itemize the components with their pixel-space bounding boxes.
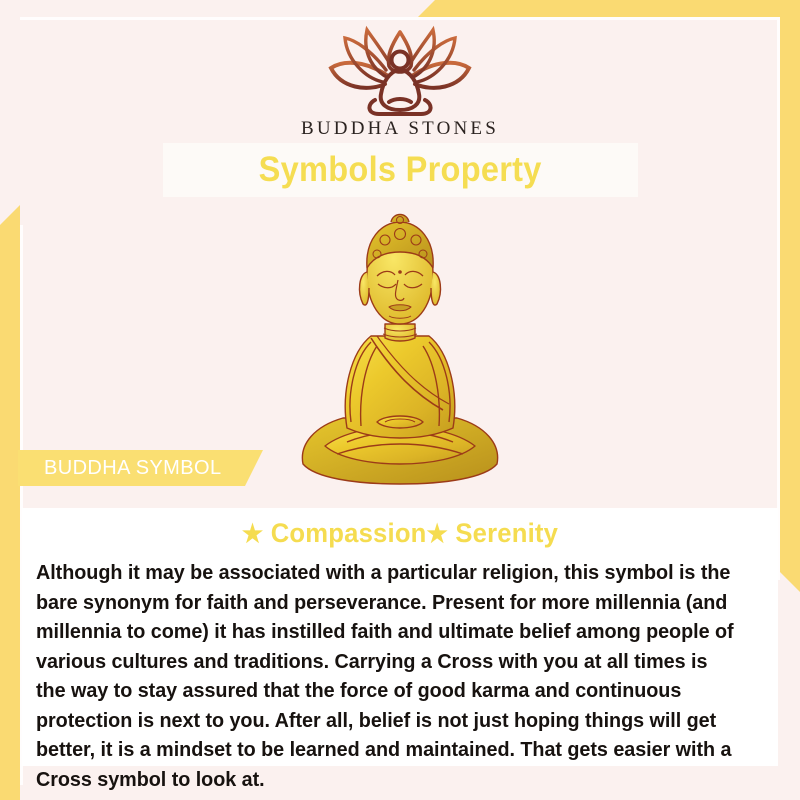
headline-word-two: Serenity bbox=[455, 518, 558, 548]
brand-wordmark: BUDDHA STONES bbox=[0, 118, 800, 140]
ribbon-label: BUDDHA SYMBOL bbox=[18, 457, 221, 480]
poster-root: BUDDHA STONES Symbols Property bbox=[0, 0, 800, 800]
frame-rule-top bbox=[20, 17, 780, 20]
section-ribbon: BUDDHA SYMBOL bbox=[18, 450, 263, 486]
page-title: Symbols Property bbox=[259, 150, 542, 190]
title-banner: Symbols Property bbox=[163, 143, 638, 197]
lotus-meditation-figure-icon bbox=[305, 24, 495, 116]
content-card: ★ Compassion★ Serenity Although it may b… bbox=[22, 508, 778, 766]
seated-buddha-illustration bbox=[285, 196, 515, 496]
headline-word-one: Compassion bbox=[271, 518, 427, 548]
star-icon-two: ★ bbox=[427, 520, 448, 548]
body-paragraph: Although it may be associated with a par… bbox=[36, 558, 739, 794]
section-headline: ★ Compassion★ Serenity bbox=[41, 518, 759, 549]
brand-logo-block: BUDDHA STONES bbox=[0, 24, 800, 140]
star-icon-one: ★ bbox=[242, 520, 263, 548]
frame-band-top bbox=[418, 0, 800, 17]
